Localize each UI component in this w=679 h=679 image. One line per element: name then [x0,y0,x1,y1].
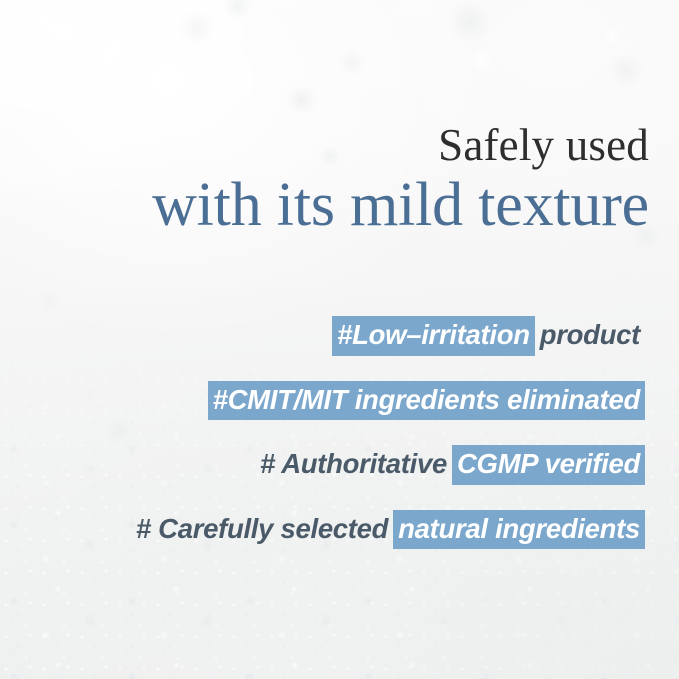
highlighted-text-segment: CGMP verified [452,445,645,485]
highlighted-text-segment: #Low–irritation [332,316,535,356]
plain-text-segment: # Carefully selected [131,510,393,550]
plain-text-segment: # Authoritative [255,445,452,485]
feature-bullet-list: #Low–irritationproduct#CMIT/MIT ingredie… [131,316,645,549]
feature-bullet-line: # Carefully selectednatural ingredients [131,510,645,550]
feature-bullet-line: #Low–irritationproduct [131,316,645,356]
banner-content: Safely used with its mild texture #Low–i… [0,0,679,679]
plain-text-segment: product [535,316,645,356]
feature-bullet-line: # AuthoritativeCGMP verified [131,445,645,485]
headline-block: Safely used with its mild texture [152,123,649,236]
promo-banner: Safely used with its mild texture #Low–i… [0,0,679,679]
headline-line-1: Safely used [152,123,649,168]
feature-bullet-line: #CMIT/MIT ingredients eliminated [131,381,645,421]
highlighted-text-segment: #CMIT/MIT ingredients eliminated [208,381,645,421]
highlighted-text-segment: natural ingredients [393,510,645,550]
headline-line-2: with its mild texture [152,174,649,236]
